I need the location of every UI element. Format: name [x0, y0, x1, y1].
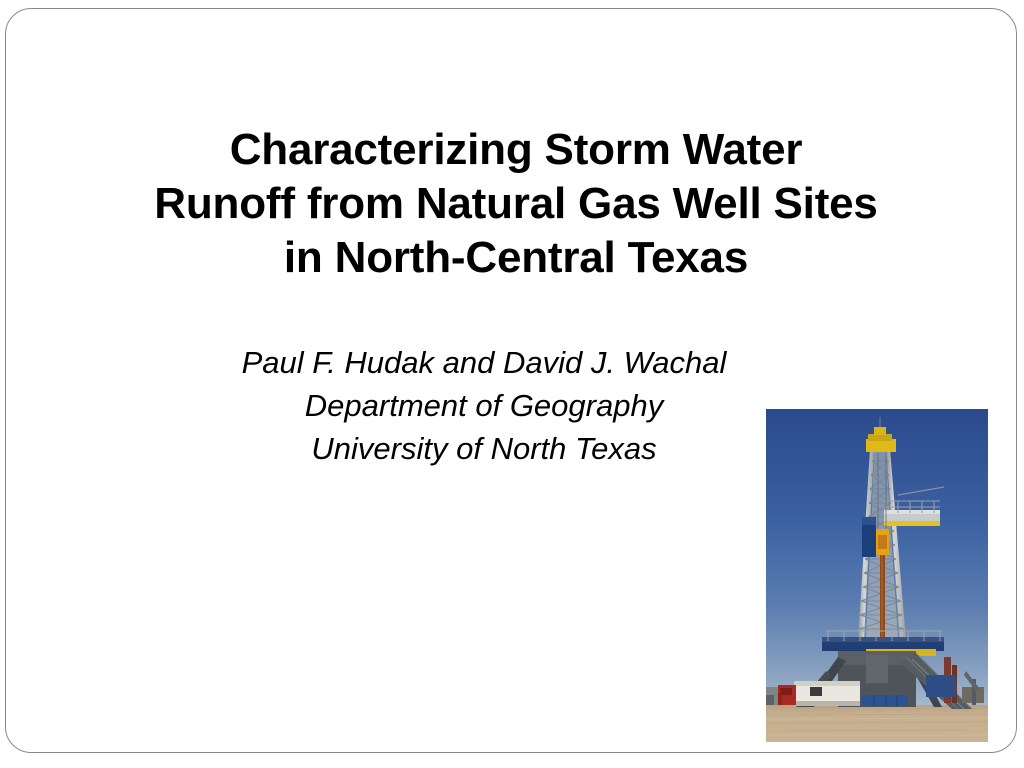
- page-title: Characterizing Storm Water Runoff from N…: [66, 123, 966, 285]
- title-line-2: Runoff from Natural Gas Well Sites: [66, 177, 966, 231]
- slide-frame: Characterizing Storm Water Runoff from N…: [5, 8, 1017, 753]
- natural-gas-drilling-rig-photo: [766, 409, 988, 742]
- title-line-3: in North-Central Texas: [66, 231, 966, 285]
- title-line-1: Characterizing Storm Water: [66, 123, 966, 177]
- authors-line: Paul F. Hudak and David J. Wachal: [34, 341, 934, 384]
